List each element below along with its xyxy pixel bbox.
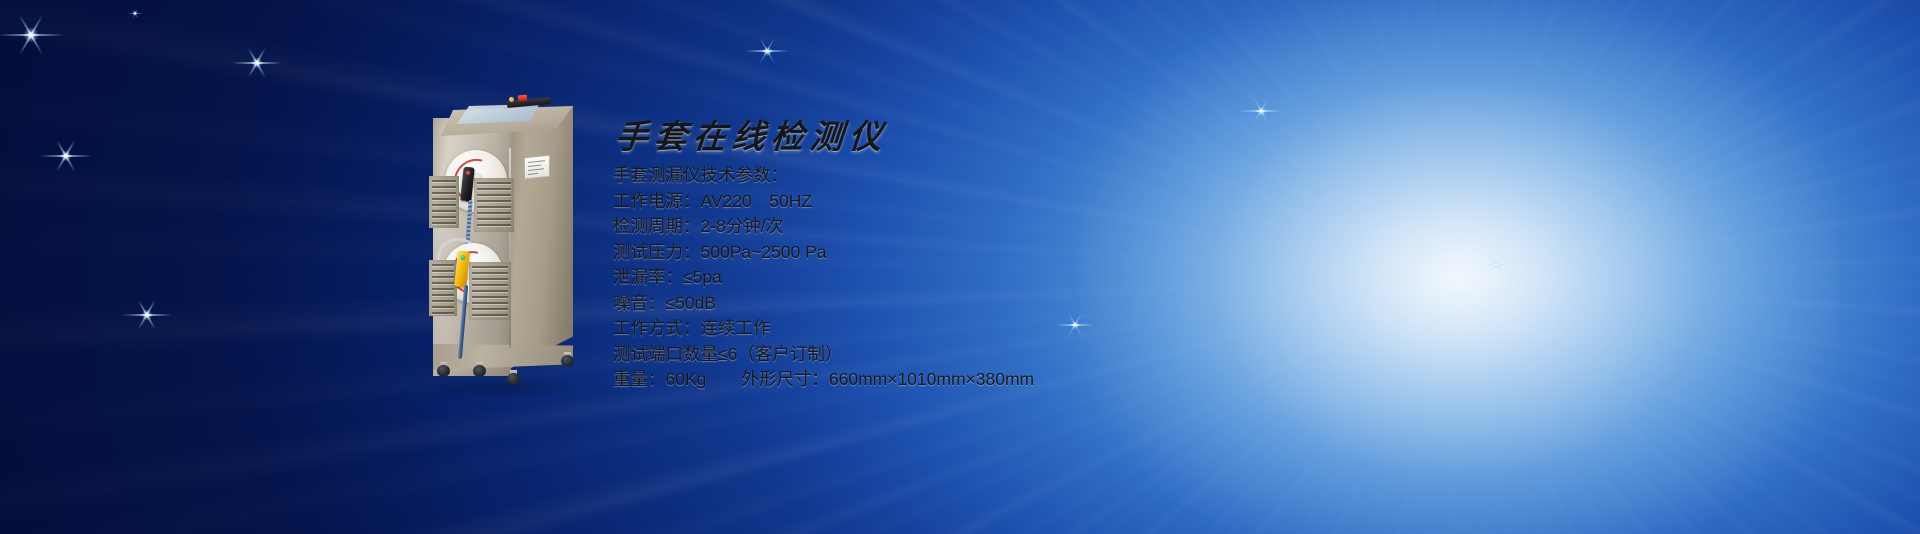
indicator-lamp-icon (509, 97, 514, 102)
louver-vent-panel-upper-right (474, 178, 514, 232)
caster-wheel-icon (437, 365, 450, 377)
spec-line: 测试端口数量≤6（客户订制） (613, 342, 1373, 368)
louver-vent-panel-upper-left (429, 176, 459, 228)
louver-vent-panel-lower-left (429, 260, 457, 316)
spec-line: 噪音：≤50dB (613, 291, 1373, 317)
product-image (421, 88, 581, 390)
caster-wheel-front (437, 362, 450, 377)
product-shadow (427, 378, 579, 398)
spec-line: 测试压力：500Pa~2500 Pa (613, 240, 1373, 266)
control-panel (451, 104, 543, 124)
spec-line: 手套测漏仪技术参数： (613, 163, 1373, 189)
caster-wheel-icon-far (561, 355, 574, 367)
spec-list: 手套测漏仪技术参数：工作电源：AV220 50HZ检测周期：2-8分钟/次测试压… (613, 163, 1373, 393)
yellow-gun-indicator-icon (460, 255, 465, 260)
louver-vent-panel-lower-right (469, 262, 511, 320)
spec-line: 重量：60Kg 外形尺寸：660mm×1010mm×380mm (613, 367, 1373, 393)
cabinet-side-panel (511, 106, 573, 368)
caster-wheel-far (561, 352, 574, 367)
product-banner: 手套在线检测仪 手套测漏仪技术参数：工作电源：AV220 50HZ检测周期：2-… (0, 0, 1920, 534)
copy-block: 手套在线检测仪 手套测漏仪技术参数：工作电源：AV220 50HZ检测周期：2-… (613, 120, 1373, 393)
spec-line: 工作电源：AV220 50HZ (613, 189, 1373, 215)
gun-indicator-icon (466, 171, 470, 175)
spec-line: 泄漏率：≤5pa (613, 265, 1373, 291)
caster-wheel-mid (473, 362, 486, 377)
banner-title: 手套在线检测仪 (614, 120, 1375, 153)
spec-line: 检测周期：2-8分钟/次 (613, 214, 1373, 240)
spec-nameplate (524, 155, 550, 180)
caster-wheel-icon-rear (507, 373, 520, 385)
caster-wheel-rear (507, 370, 520, 385)
cabinet-kick-plate (433, 344, 573, 370)
caster-wheel-icon-mid (473, 365, 486, 377)
emergency-stop-button (518, 95, 527, 102)
spec-line: 工作方式：连续工作 (613, 316, 1373, 342)
